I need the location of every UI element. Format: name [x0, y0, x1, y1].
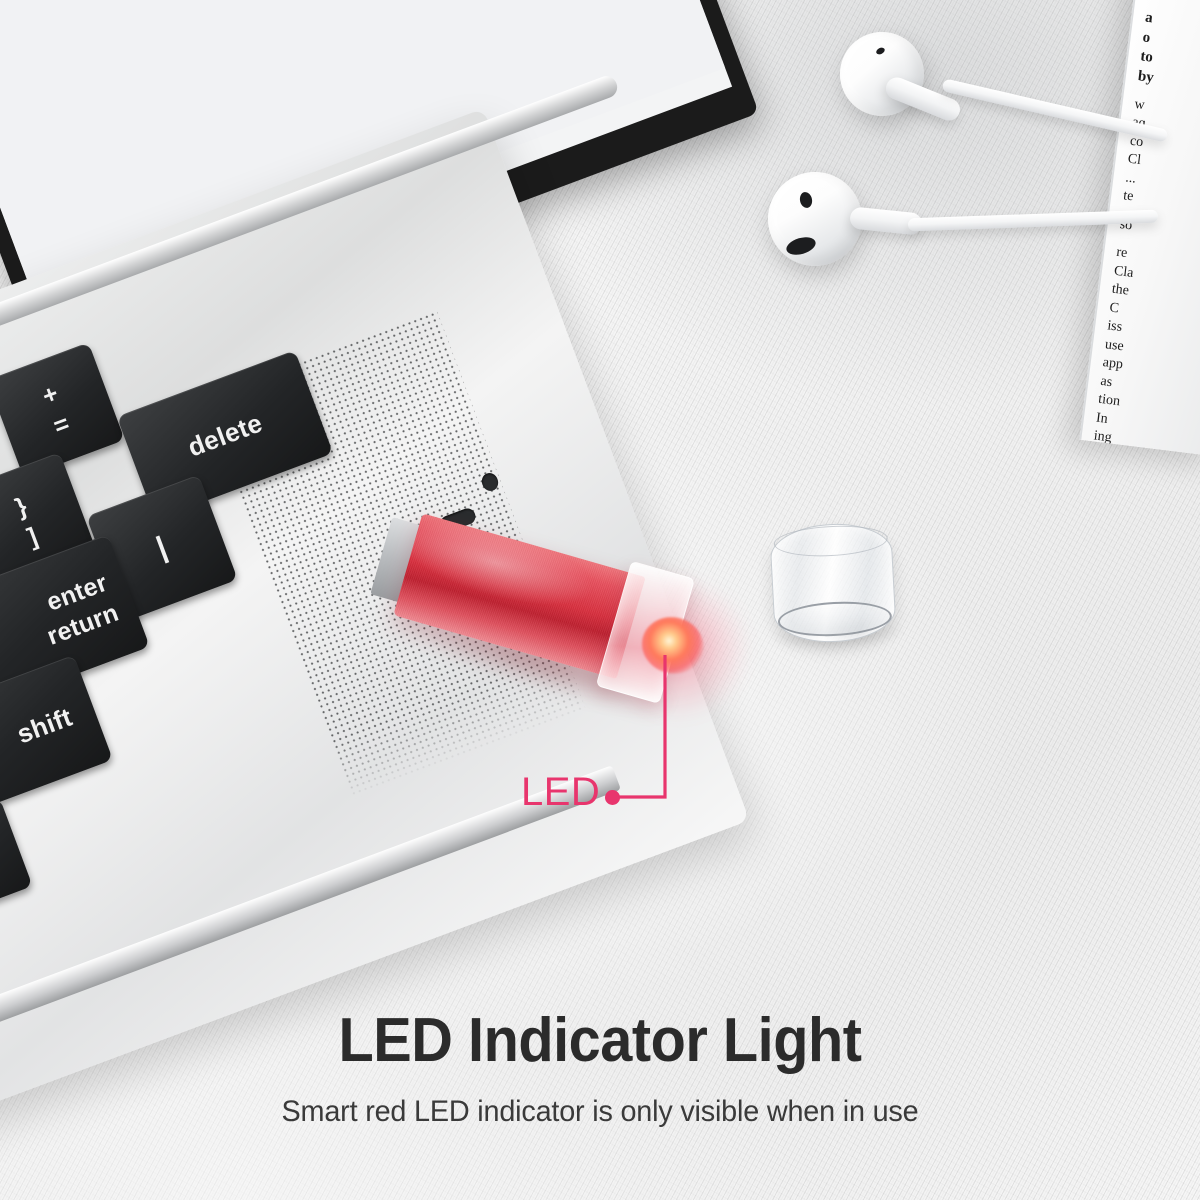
led-callout-dot — [605, 790, 620, 805]
usb-drive-cap — [769, 521, 897, 645]
key-label-bottom: ] — [23, 522, 41, 552]
page-title: LED Indicator Light — [42, 1005, 1158, 1076]
key-label: shift — [13, 701, 77, 750]
laptop: 2013 2014 2015 2016 2017 ... odio et ant… — [0, 0, 720, 1020]
key-label-top: } — [12, 492, 32, 523]
key-label-top: + — [38, 379, 62, 411]
key-label-bottom: = — [50, 409, 74, 441]
key-label: | — [152, 531, 172, 566]
page-subtitle: Smart red LED indicator is only visible … — [24, 1095, 1176, 1129]
product-photo-scene: a o to by w aɡ co Cl ... te so re Cla th… — [0, 0, 1200, 1200]
key-label: delete — [184, 407, 267, 463]
led-callout-label: LED — [521, 772, 600, 812]
